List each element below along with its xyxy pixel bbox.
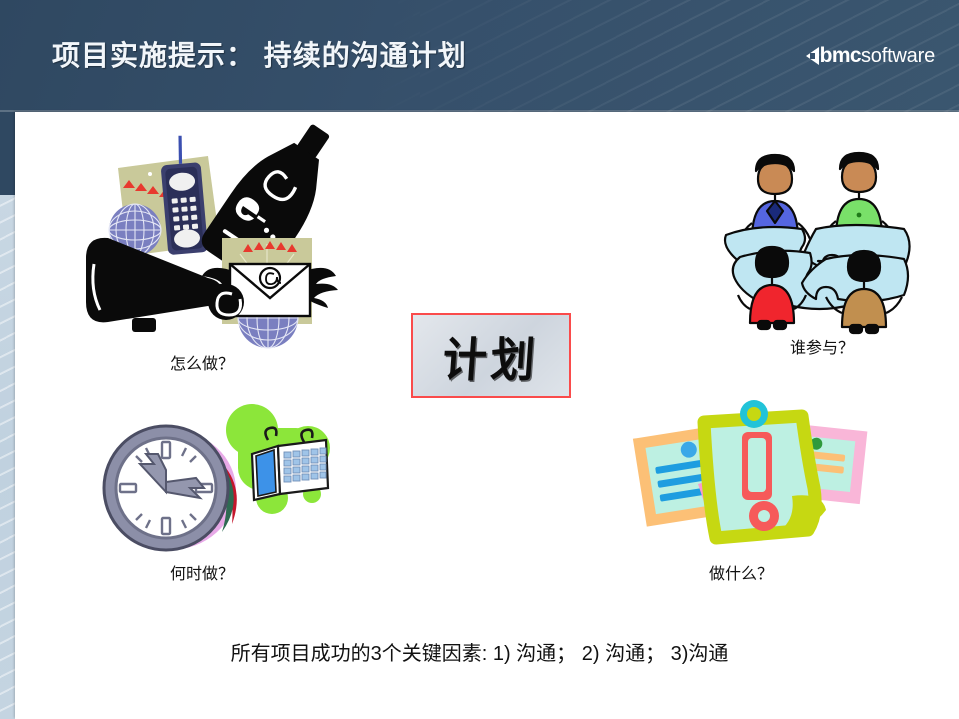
page-title: 项目实施提示： 持续的沟通计划	[52, 34, 467, 74]
logo-bold-text: bmc	[820, 44, 861, 68]
caption-who: 谁参与？	[742, 334, 902, 358]
footer-caption: 所有项目成功的3个关键因素: 1) 沟通； 2) 沟通； 3)沟通	[0, 637, 959, 666]
caption-what: 做什么？	[661, 560, 821, 584]
communications-collage-clipart	[80, 126, 372, 334]
presentation-slide: 项目实施提示： 持续的沟通计划 bmc software	[0, 0, 959, 719]
plan-callout-box: 计划	[411, 313, 571, 398]
documents-with-exclamation-clipart	[642, 404, 874, 560]
logo-light-text: software	[861, 45, 935, 68]
left-arrow-mark-icon	[806, 47, 819, 65]
plan-label: 计划	[441, 322, 542, 390]
bmc-software-logo: bmc software	[806, 44, 935, 68]
people-holding-puzzle-pieces-clipart	[692, 131, 940, 331]
clock-and-calendar-clipart	[92, 402, 340, 560]
caption-when: 何时做？	[122, 560, 282, 584]
caption-how: 怎么做？	[122, 350, 282, 374]
left-decor-strip-dark	[0, 112, 15, 195]
